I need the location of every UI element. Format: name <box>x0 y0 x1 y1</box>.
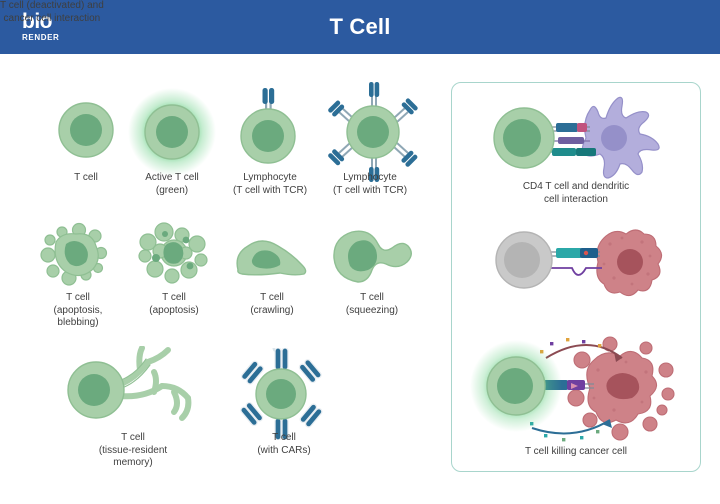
figure-t-cell-squeezing <box>328 222 418 288</box>
figure-t-cell <box>48 92 124 168</box>
caption-lymphocyte-tcr: Lymphocyte (T cell with TCR) <box>218 172 322 197</box>
figure-t-cell-trm <box>62 346 192 430</box>
figure-t-cell-apoptosis <box>134 222 216 286</box>
caption-cd4-dendritic: CD4 T cell and dendritic cell interactio… <box>490 181 662 206</box>
caption-t-cell-squeezing: T cell (squeezing) <box>322 292 422 317</box>
caption-deactivated-cancer: T cell (deactivated) and cancer cell int… <box>0 0 104 25</box>
caption-lymphocyte-tcr-multi: Lymphocyte (T cell with TCR) <box>314 172 426 197</box>
caption-t-cell-trm: T cell (tissue-resident memory) <box>78 432 188 470</box>
figure-t-cell-crawling <box>228 232 314 284</box>
figure-active-t-cell <box>124 84 220 180</box>
page-title: T Cell <box>0 0 720 54</box>
caption-t-cell-apoptosis: T cell (apoptosis) <box>124 292 224 317</box>
caption-t-cell: T cell <box>36 172 136 185</box>
caption-t-cell-crawling: T cell (crawling) <box>222 292 322 317</box>
caption-t-cell-blebbing: T cell (apoptosis, blebbing) <box>28 292 128 330</box>
figure-killing-cancer <box>470 336 682 442</box>
caption-t-cell-cars: T cell (with CARs) <box>232 432 336 457</box>
figure-cd4-dendritic <box>486 96 666 180</box>
figure-lymphocyte-tcr <box>228 84 308 174</box>
figure-deactivated-cancer <box>490 226 666 300</box>
figure-t-cell-blebbing <box>38 222 118 288</box>
figure-lymphocyte-tcr-multi <box>320 80 424 184</box>
caption-active-t-cell: Active T cell (green) <box>122 172 222 197</box>
figure-t-cell-cars <box>234 348 330 440</box>
caption-killing-cancer: T cell killing cancer cell <box>490 446 662 459</box>
